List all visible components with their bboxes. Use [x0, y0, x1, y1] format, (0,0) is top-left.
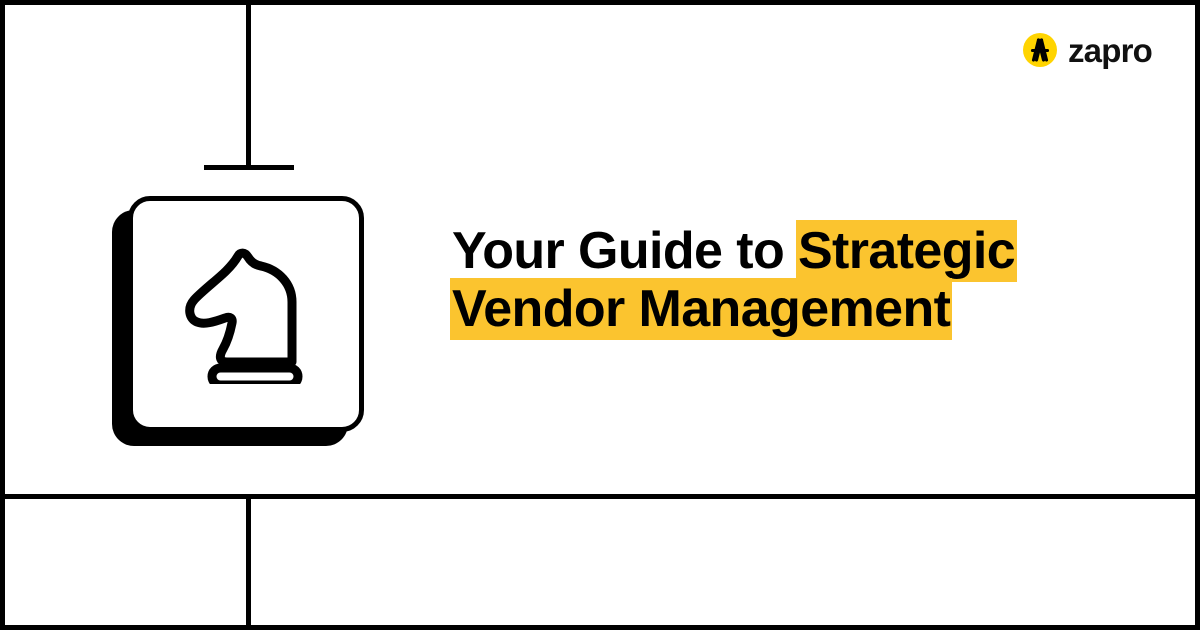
zapro-monogram-icon: [1023, 33, 1057, 67]
headline-highlight-line1: Strategic: [798, 222, 1015, 280]
brand-name: zapro: [1068, 34, 1152, 67]
knight-card: [112, 196, 364, 448]
horizontal-divider-line: [0, 494, 1200, 499]
hanging-rod-icon: [246, 0, 251, 170]
vertical-divider-line: [246, 494, 251, 630]
hanging-crossbar-icon: [204, 165, 294, 170]
brand-lockup[interactable]: zapro: [1023, 33, 1152, 67]
chess-knight-icon: [181, 244, 311, 384]
card-face: [128, 196, 364, 432]
headline-highlight-line2: Vendor Management: [452, 280, 950, 338]
headline-plain-text: Your Guide to: [452, 222, 798, 280]
poster-canvas: Your Guide to StrategicVendor Management…: [0, 0, 1200, 630]
page-title: Your Guide to StrategicVendor Management: [452, 222, 1072, 338]
